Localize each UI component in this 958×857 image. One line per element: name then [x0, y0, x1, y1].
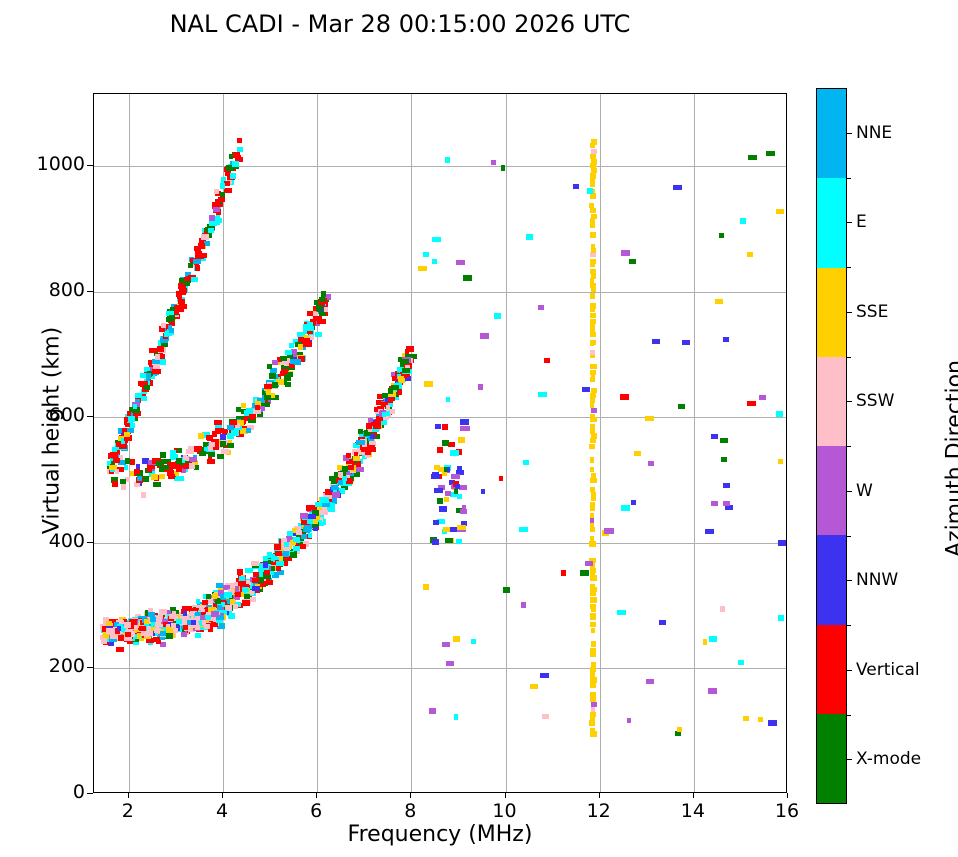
scatter-point	[418, 266, 426, 271]
scatter-point	[327, 507, 335, 512]
scatter-point	[315, 502, 322, 507]
scatter-point	[748, 155, 757, 160]
scatter-point	[116, 442, 121, 447]
scatter-point	[585, 561, 594, 566]
scatter-point	[125, 458, 130, 463]
scatter-point	[590, 682, 596, 687]
scatter-point	[353, 456, 360, 461]
scatter-point	[740, 218, 746, 223]
scatter-point	[356, 467, 364, 472]
x-tick	[505, 793, 506, 798]
y-tick	[87, 416, 93, 417]
scatter-point	[161, 609, 168, 614]
scatter-point	[590, 424, 595, 429]
scatter-point	[332, 498, 336, 503]
scatter-point	[306, 505, 310, 510]
scatter-point	[776, 209, 783, 214]
scatter-point	[176, 476, 184, 481]
scatter-point	[361, 447, 367, 452]
scatter-point	[621, 505, 630, 510]
scatter-point	[386, 405, 390, 410]
colorbar-band-e[interactable]	[817, 178, 846, 267]
scatter-point	[432, 237, 441, 242]
scatter-point	[201, 234, 209, 239]
x-tick	[599, 793, 600, 798]
scatter-point	[235, 592, 242, 597]
scatter-point	[307, 519, 313, 524]
scatter-point	[232, 161, 238, 166]
scatter-point	[454, 489, 459, 494]
scatter-point	[634, 451, 641, 456]
scatter-point	[719, 233, 724, 238]
scatter-point	[445, 157, 450, 162]
colorbar-boundary-tick	[847, 178, 851, 179]
scatter-point	[720, 438, 728, 443]
x-tick	[316, 793, 317, 798]
scatter-point	[759, 395, 766, 400]
scatter-point	[442, 440, 449, 445]
scatter-point	[451, 474, 460, 479]
scatter-point	[129, 416, 135, 421]
scatter-point	[121, 484, 126, 489]
scatter-point	[678, 404, 685, 409]
scatter-point	[590, 457, 594, 462]
scatter-point	[677, 727, 682, 732]
scatter-point	[147, 626, 152, 631]
scatter-point	[178, 299, 186, 304]
scatter-point	[127, 411, 131, 416]
scatter-point	[183, 625, 188, 630]
scatter-point	[458, 437, 465, 442]
colorbar-tick	[847, 491, 852, 492]
scatter-point	[591, 492, 596, 497]
scatter-point	[156, 461, 163, 466]
scatter-point	[682, 340, 690, 345]
scatter-point	[590, 502, 595, 507]
azimuth-colorbar[interactable]	[816, 88, 847, 804]
y-tick	[87, 667, 93, 668]
scatter-point	[224, 592, 232, 597]
scatter-point	[338, 472, 343, 477]
scatter-point	[252, 578, 259, 583]
scatter-point	[590, 487, 595, 492]
x-axis-label: Frequency (MHz)	[93, 822, 787, 847]
colorbar-title: Azimuth Direction	[943, 294, 958, 624]
scatter-point	[538, 392, 547, 397]
scatter-point	[591, 388, 597, 393]
scatter-point	[432, 259, 437, 264]
scatter-point	[220, 434, 226, 439]
scatter-point	[300, 544, 307, 549]
scatter-point	[206, 594, 211, 599]
x-tick	[222, 793, 223, 798]
scatter-point	[120, 479, 126, 484]
scatter-point	[298, 337, 304, 342]
scatter-point	[216, 214, 221, 219]
x-tick-label: 2	[98, 800, 158, 822]
scatter-point	[106, 621, 112, 626]
x-tick	[410, 793, 411, 798]
x-tick	[693, 793, 694, 798]
scatter-point	[590, 313, 596, 318]
scatter-point	[590, 364, 597, 369]
colorbar-tick	[847, 580, 852, 581]
scatter-point	[230, 599, 235, 604]
x-tick-label: 8	[380, 800, 440, 822]
y-tick-label: 0	[0, 781, 85, 803]
scatter-point	[110, 634, 118, 639]
scatter-point	[589, 541, 596, 546]
scatter-point	[590, 584, 595, 589]
scatter-point	[113, 458, 120, 463]
scatter-point	[124, 622, 131, 627]
scatter-point	[445, 538, 453, 543]
scatter-point	[264, 384, 272, 389]
scatter-point	[590, 728, 594, 733]
scatter-point	[227, 433, 234, 438]
scatter-point	[519, 527, 527, 532]
scatter-point	[439, 506, 447, 511]
scatter-point	[116, 647, 124, 652]
scatter-point	[591, 641, 596, 646]
scatter-point	[115, 469, 119, 474]
scatter-point	[236, 407, 242, 412]
scatter-point	[590, 438, 596, 443]
gridline-vertical	[600, 94, 601, 792]
scatter-point	[230, 173, 236, 178]
scatter-point	[348, 465, 354, 470]
scatter-point	[183, 463, 189, 468]
scatter-point	[406, 346, 414, 351]
scatter-point	[293, 537, 300, 542]
scatter-point	[290, 552, 298, 557]
scatter-point	[280, 356, 288, 361]
gridline-horizontal	[94, 543, 786, 544]
colorbar-tick	[847, 759, 852, 760]
scatter-point	[250, 415, 255, 420]
scatter-point	[645, 416, 653, 421]
scatter-point	[235, 586, 239, 591]
y-tick-label: 200	[0, 655, 85, 677]
scatter-point	[176, 291, 180, 296]
scatter-point	[590, 293, 595, 298]
scatter-point	[242, 600, 250, 605]
scatter-point	[263, 562, 268, 567]
scatter-point	[402, 359, 409, 364]
scatter-point	[434, 488, 443, 493]
y-tick	[87, 165, 93, 166]
scatter-point	[590, 154, 596, 159]
scatter-point	[152, 369, 160, 374]
scatter-point	[215, 599, 221, 604]
scatter-point	[169, 315, 175, 320]
scatter-point	[196, 599, 201, 604]
scatter-point	[246, 408, 252, 413]
scatter-point	[723, 501, 730, 506]
scatter-point	[239, 576, 246, 581]
scatter-point	[591, 244, 596, 249]
scatter-point	[590, 573, 595, 578]
scatter-point	[620, 394, 629, 399]
colorbar-band-vertical[interactable]	[817, 625, 846, 714]
scatter-point	[135, 393, 143, 398]
scatter-point	[237, 138, 242, 143]
scatter-point	[766, 151, 775, 156]
scatter-point	[346, 453, 352, 458]
scatter-point	[591, 662, 596, 667]
scatter-point	[659, 620, 666, 625]
scatter-point	[540, 673, 549, 678]
scatter-point	[251, 561, 258, 566]
gridline-horizontal	[94, 292, 786, 293]
scatter-point	[216, 583, 223, 588]
colorbar-label-nne: NNE	[856, 123, 892, 143]
scatter-point	[590, 677, 596, 682]
scatter-point	[456, 539, 463, 544]
scatter-point	[195, 251, 202, 256]
y-tick	[87, 793, 93, 794]
y-tick-label: 1000	[0, 153, 85, 175]
scatter-point	[382, 412, 386, 417]
gridline-horizontal	[94, 417, 786, 418]
scatter-point	[199, 451, 207, 456]
scatter-point	[252, 586, 260, 591]
scatter-point	[233, 152, 240, 157]
scatter-point	[173, 628, 178, 633]
colorbar-band-w[interactable]	[817, 446, 846, 535]
scatter-point	[209, 215, 215, 220]
scatter-point	[213, 207, 220, 212]
scatter-point	[315, 332, 322, 337]
scatter-point	[457, 494, 462, 499]
scatter-point	[627, 718, 632, 723]
scatter-point	[125, 632, 131, 637]
scatter-point	[423, 584, 429, 589]
scatter-point	[237, 569, 242, 574]
scatter-point	[429, 708, 436, 713]
scatter-point	[459, 485, 467, 490]
colorbar-boundary-tick	[847, 536, 851, 537]
scatter-point	[166, 627, 173, 632]
scatter-point	[382, 402, 386, 407]
scatter-point	[709, 636, 717, 641]
scatter-point	[195, 265, 200, 270]
scatter-point	[463, 275, 471, 280]
scatter-point	[590, 467, 595, 472]
scatter-point	[177, 448, 182, 453]
scatter-point	[538, 305, 544, 310]
scatter-point	[244, 594, 249, 599]
scatter-point	[590, 697, 596, 702]
scatter-point	[253, 572, 259, 577]
scatter-point	[460, 419, 469, 424]
scatter-point	[431, 474, 439, 479]
scatter-point	[296, 530, 301, 535]
colorbar-boundary-tick	[847, 446, 851, 447]
scatter-point	[155, 354, 161, 359]
scatter-point	[446, 397, 451, 402]
scatter-point	[542, 714, 549, 719]
scatter-point	[591, 707, 595, 712]
scatter-point	[202, 620, 206, 625]
scatter-point	[168, 474, 175, 479]
scatter-point	[526, 234, 533, 239]
colorbar-tick	[847, 670, 852, 671]
scatter-point	[227, 425, 233, 430]
scatter-point	[176, 619, 182, 624]
colorbar-band-ssw[interactable]	[817, 357, 846, 446]
y-tick	[87, 291, 93, 292]
scatter-point	[183, 455, 187, 460]
scatter-point	[621, 250, 630, 255]
scatter-point	[112, 453, 117, 458]
scatter-point	[590, 692, 596, 697]
scatter-point	[561, 570, 566, 575]
scatter-point	[590, 478, 597, 483]
scatter-point	[705, 529, 714, 534]
scatter-point	[130, 459, 135, 464]
scatter-point	[307, 311, 314, 316]
scatter-point	[397, 367, 401, 372]
colorbar-band-nne[interactable]	[817, 89, 846, 178]
scatter-point	[590, 622, 596, 627]
scatter-point	[446, 661, 454, 666]
scatter-point	[170, 450, 176, 455]
scatter-point	[590, 283, 596, 288]
scatter-point	[356, 440, 364, 445]
scatter-point	[342, 476, 346, 481]
scatter-point	[164, 465, 170, 470]
scatter-point	[112, 447, 117, 452]
scatter-point	[279, 556, 284, 561]
scatter-point	[289, 343, 294, 348]
scatter-point	[587, 188, 594, 193]
scatter-point	[778, 615, 785, 620]
scatter-point	[582, 387, 590, 392]
scatter-point	[285, 350, 292, 355]
scatter-point	[715, 299, 723, 304]
scatter-point	[285, 382, 290, 387]
scatter-point	[124, 465, 128, 470]
x-tick-label: 12	[569, 800, 629, 822]
scatter-point	[544, 358, 550, 363]
scatter-point	[591, 214, 597, 219]
scatter-point	[193, 259, 201, 264]
scatter-point	[227, 443, 234, 448]
scatter-point	[283, 551, 290, 556]
scatter-point	[151, 474, 158, 479]
scatter-point	[591, 408, 597, 413]
scatter-point	[494, 313, 501, 318]
scatter-point	[308, 514, 316, 519]
scatter-point	[573, 184, 579, 189]
scatter-point	[457, 525, 466, 530]
scatter-point	[491, 160, 496, 165]
scatter-point	[708, 688, 717, 693]
scatter-point	[237, 147, 243, 152]
colorbar-boundary-tick	[847, 625, 851, 626]
scatter-point	[590, 173, 596, 178]
scatter-point	[137, 476, 142, 481]
scatter-point	[738, 660, 744, 665]
scatter-point	[324, 307, 328, 312]
scatter-point	[590, 319, 596, 324]
scatter-point	[174, 310, 180, 315]
scatter-point	[373, 424, 381, 429]
scatter-point	[453, 636, 459, 641]
scatter-point	[591, 139, 597, 144]
scatter-point	[160, 452, 166, 457]
colorbar-label-sse: SSE	[856, 302, 888, 322]
scatter-point	[711, 434, 718, 439]
scatter-point	[589, 444, 595, 449]
scatter-point	[218, 428, 223, 433]
scatter-point	[215, 201, 220, 206]
scatter-point	[306, 326, 314, 331]
scatter-point	[480, 333, 489, 338]
scatter-point	[590, 414, 595, 419]
scatter-point	[590, 328, 595, 333]
x-tick-label: 10	[475, 800, 535, 822]
scatter-point	[274, 544, 280, 549]
colorbar-band-nnw[interactable]	[817, 535, 846, 624]
scatter-point	[590, 518, 594, 523]
scatter-point	[338, 480, 343, 485]
scatter-point	[313, 316, 321, 321]
scatter-point	[402, 368, 410, 373]
scatter-point	[723, 483, 731, 488]
scatter-point	[778, 459, 783, 464]
scatter-point	[374, 407, 378, 412]
colorbar-tick	[847, 401, 852, 402]
scatter-point	[209, 442, 215, 447]
scatter-point	[106, 628, 111, 633]
scatter-point	[591, 473, 597, 478]
scatter-point	[590, 259, 595, 264]
gridline-vertical	[694, 94, 695, 792]
colorbar-band-sse[interactable]	[817, 268, 846, 357]
x-tick-label: 16	[757, 800, 817, 822]
scatter-point	[720, 606, 725, 611]
scatter-point	[590, 370, 595, 375]
scatter-point	[149, 348, 157, 353]
scatter-point	[245, 568, 253, 573]
x-tick	[128, 793, 129, 798]
scatter-point	[652, 339, 660, 344]
scatter-point	[590, 350, 595, 355]
scatter-point	[435, 424, 441, 429]
ionogram-plot-area[interactable]	[93, 93, 787, 793]
colorbar-band-x-mode[interactable]	[817, 714, 846, 803]
scatter-point	[153, 637, 160, 642]
scatter-point	[590, 513, 594, 518]
scatter-point	[499, 476, 504, 481]
scatter-point	[220, 441, 227, 446]
page-title: NAL CADI - Mar 28 00:15:00 2026 UTC	[0, 10, 800, 38]
scatter-point	[176, 466, 182, 471]
colorbar-label-x-mode: X-mode	[856, 749, 921, 769]
scatter-point	[590, 604, 596, 609]
scatter-point	[160, 631, 166, 636]
colorbar-label-nnw: NNW	[856, 570, 898, 590]
scatter-point	[166, 633, 173, 638]
scatter-point	[590, 398, 594, 403]
scatter-point	[711, 501, 718, 506]
scatter-point	[747, 252, 753, 257]
scatter-point	[590, 672, 596, 677]
scatter-point	[134, 469, 140, 474]
x-tick-label: 14	[663, 800, 723, 822]
